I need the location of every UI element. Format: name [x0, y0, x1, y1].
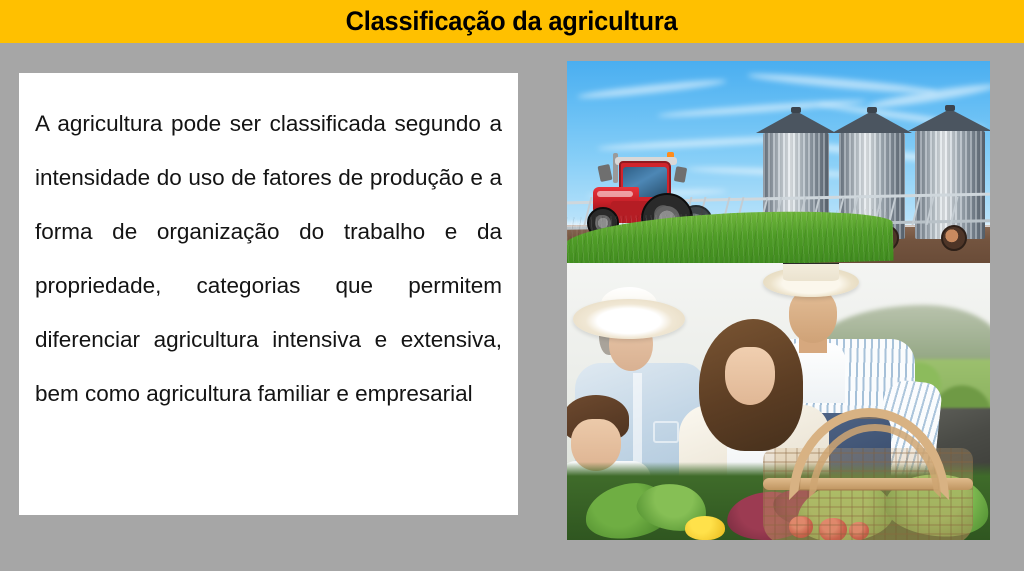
- tractor-silos-photo: [567, 61, 990, 263]
- silo-roof: [756, 111, 836, 133]
- text-content-card: A agricultura pode ser classificada segu…: [19, 73, 518, 515]
- silo-cap: [867, 107, 877, 113]
- silo-cap: [791, 107, 801, 113]
- silo-roof: [908, 109, 990, 131]
- yellow-pepper: [685, 516, 725, 540]
- straw-hat-band: [783, 263, 839, 264]
- wicker-basket: [763, 448, 973, 540]
- straw-hat-crown: [783, 263, 839, 281]
- title-bar: Classificação da agricultura: [0, 0, 1024, 43]
- grandmother-shirt-pocket: [653, 421, 679, 443]
- page-title: Classificação da agricultura: [346, 6, 678, 37]
- silo-roof: [832, 111, 912, 133]
- sun-hat-icon: [573, 299, 685, 339]
- body-paragraph: A agricultura pode ser classificada segu…: [35, 97, 502, 421]
- tractor-hood-stripe: [597, 191, 633, 197]
- tractor-mirror-right: [674, 166, 687, 183]
- grandfather-face: [789, 289, 837, 343]
- tractor-mirror-left: [597, 164, 612, 182]
- family-harvest-photo: [567, 263, 990, 540]
- girl-face: [725, 347, 775, 405]
- silo-cap: [945, 105, 955, 111]
- green-crop-field: [567, 209, 894, 263]
- pivot-wheel: [941, 225, 967, 251]
